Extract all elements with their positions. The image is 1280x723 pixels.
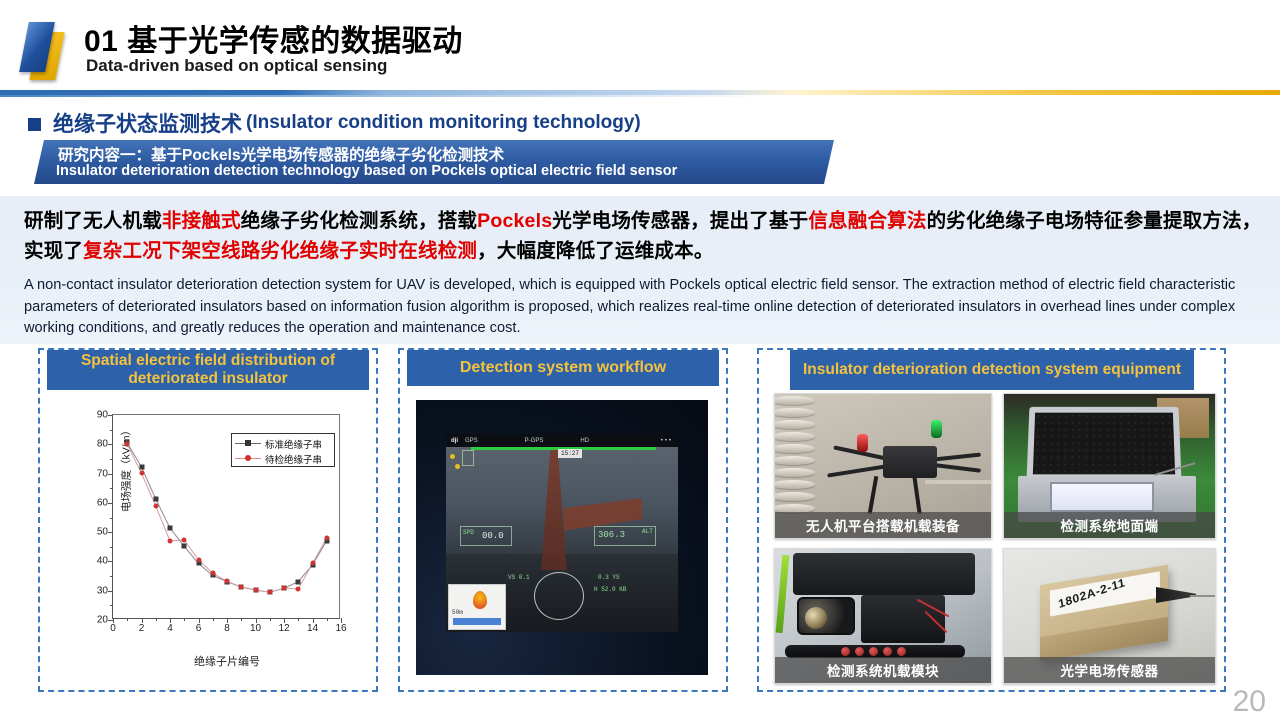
chart-x-minor-tickmark — [327, 618, 328, 621]
section-heading-zh: 绝缘子状态监测技术 — [53, 108, 242, 138]
legend-item-tested: 待检绝缘子串 — [235, 451, 331, 466]
controller-screen: dji GPS P-GPS HD ••• 15:27 SPD 00.0 306.… — [446, 434, 678, 632]
chart-x-tick: 4 — [167, 623, 173, 634]
chart-data-point — [225, 579, 230, 584]
summary-paragraph-zh: 研制了无人机载非接触式绝缘子劣化检测系统，搭载Pockels光学电场传感器，提出… — [24, 206, 1262, 266]
map-scale-label: 50m — [452, 609, 463, 616]
chart-x-tick: 2 — [139, 623, 145, 634]
photo-caption: 检测系统地面端 — [1004, 512, 1215, 538]
chart-data-point — [253, 587, 258, 592]
chart-y-minor-tickmark — [110, 605, 113, 606]
chart-x-tickmark — [313, 618, 314, 623]
square-bullet-icon — [28, 118, 41, 131]
photo-caption: 光学电场传感器 — [1004, 657, 1215, 683]
chart-data-point — [196, 557, 201, 562]
chart-x-tick: 16 — [335, 623, 346, 634]
chart-y-tickmark — [108, 591, 113, 592]
header-divider-secondary — [0, 95, 1280, 97]
drone-led-green-icon — [931, 420, 942, 438]
panel-title-left: Spatial electric field distribution of d… — [47, 350, 369, 390]
chart-x-tickmark — [284, 618, 285, 623]
chart-x-tickmark — [341, 618, 342, 623]
chart-x-axis-label: 绝缘子片编号 — [113, 653, 341, 669]
dji-logo-icon: dji — [451, 438, 458, 444]
chart-data-point — [125, 442, 130, 447]
chart-y-tick: 40 — [97, 556, 108, 567]
osd-left-stick-icon — [450, 452, 462, 478]
chart-y-tickmark — [108, 474, 113, 475]
osd-timer: 15:27 — [558, 449, 582, 458]
chart-data-point — [182, 544, 187, 549]
osd-top-bar: dji GPS P-GPS HD ••• — [446, 434, 678, 447]
chart-y-minor-tickmark — [110, 547, 113, 548]
osd-gps-label: GPS — [465, 438, 478, 444]
chart-x-tickmark — [170, 618, 171, 623]
osd-mode-label: P-GPS — [525, 438, 544, 444]
osd-alt-value: 306.3 — [598, 530, 625, 540]
osd-vs: VS 0.1 — [508, 574, 530, 581]
chart-data-point — [139, 465, 144, 470]
chart-x-minor-tickmark — [156, 618, 157, 621]
chart-data-point — [310, 561, 315, 566]
chart-x-minor-tickmark — [184, 618, 185, 621]
chart-y-tick: 70 — [97, 468, 108, 479]
chart-y-tick: 50 — [97, 527, 108, 538]
panel-title-mid: Detection system workflow — [407, 350, 719, 386]
legend-marker-circle-icon — [235, 458, 261, 459]
photo-caption: 无人机平台搭载机载装备 — [775, 512, 991, 538]
chart-y-tick: 80 — [97, 439, 108, 450]
chart-y-tick: 60 — [97, 497, 108, 508]
airborne-module-photo: 检测系统机载模块 — [774, 548, 992, 684]
photo-caption: 检测系统机载模块 — [775, 657, 991, 683]
page-number: 20 — [1233, 685, 1266, 719]
drone-controller-screenshot: dji GPS P-GPS HD ••• 15:27 SPD 00.0 306.… — [416, 400, 708, 675]
osd-alt-label: ALT — [642, 528, 653, 535]
map-pin-icon — [473, 591, 487, 609]
chart-y-tick: 20 — [97, 615, 108, 626]
chart-data-point — [296, 579, 301, 584]
chart-x-tick: 12 — [278, 623, 289, 634]
research-topic-banner: 研究内容一：基于Pockels光学电场传感器的绝缘子劣化检测技术 Insulat… — [34, 140, 834, 184]
uav-platform-photo: 无人机平台搭载机载装备 — [774, 393, 992, 539]
chart-y-minor-tickmark — [110, 430, 113, 431]
banner-text-zh: 研究内容一：基于Pockels光学电场传感器的绝缘子劣化检测技术 — [58, 143, 504, 165]
chart-plot-area: 电场强度（kV/m） 绝缘子片编号 标准绝缘子串 待检绝缘子串 20304050… — [112, 414, 340, 619]
chart-data-point — [296, 586, 301, 591]
section-heading: 绝缘子状态监测技术 (Insulator condition monitorin… — [28, 108, 641, 138]
chart-canvas: 电场强度（kV/m） 绝缘子片编号 标准绝缘子串 待检绝缘子串 20304050… — [42, 394, 372, 686]
chart-x-tick: 6 — [196, 623, 202, 634]
terminal-screen — [1050, 482, 1154, 512]
legend-label-tested: 待检绝缘子串 — [265, 452, 322, 466]
chart-x-tickmark — [199, 618, 200, 623]
chart-y-tickmark — [108, 503, 113, 504]
summary-block: 研制了无人机载非接触式绝缘子劣化检测系统，搭载Pockels光学电场传感器，提出… — [0, 196, 1280, 344]
chart-y-tick: 90 — [97, 410, 108, 421]
osd-dist2: H 52.0 KB — [594, 586, 626, 593]
chart-x-tickmark — [256, 618, 257, 623]
chart-data-point — [182, 538, 187, 543]
chart-data-point — [153, 497, 158, 502]
panel-title-right: Insulator deterioration detection system… — [790, 350, 1194, 390]
chart-legend: 标准绝缘子串 待检绝缘子串 — [231, 433, 335, 467]
camera-lens — [797, 597, 855, 635]
osd-dist: 0.3 YS — [598, 574, 620, 581]
legend-label-standard: 标准绝缘子串 — [265, 437, 322, 451]
osd-speed-label: SPD — [463, 529, 474, 536]
chart-data-point — [282, 586, 287, 591]
chart-y-minor-tickmark — [110, 576, 113, 577]
chart-x-minor-tickmark — [127, 618, 128, 621]
drone-body — [883, 446, 937, 478]
chart-data-point — [324, 536, 329, 541]
chart-x-tickmark — [113, 618, 114, 623]
chart-x-tickmark — [227, 618, 228, 623]
drone-led-red-icon — [857, 434, 868, 452]
osd-left-panel — [462, 450, 474, 466]
chart-y-tickmark — [108, 561, 113, 562]
chart-data-point — [168, 538, 173, 543]
chart-x-minor-tickmark — [298, 618, 299, 621]
chart-x-tick: 14 — [307, 623, 318, 634]
chart-y-tickmark — [108, 415, 113, 416]
optical-field-sensor-photo: 1802A-2-11 光学电场传感器 — [1003, 548, 1216, 684]
chart-y-minor-tickmark — [110, 518, 113, 519]
chart-x-minor-tickmark — [270, 618, 271, 621]
chart-y-minor-tickmark — [110, 459, 113, 460]
osd-speed-value: 00.0 — [482, 531, 504, 541]
section-heading-en: (Insulator condition monitoring technolo… — [246, 112, 641, 134]
chart-data-point — [239, 584, 244, 589]
legend-marker-square-icon — [235, 443, 261, 444]
case-lid — [1027, 407, 1182, 481]
summary-paragraph-en: A non-contact insulator deterioration de… — [24, 275, 1262, 338]
page-title-zh: 01 基于光学传感的数据驱动 — [84, 16, 463, 60]
banner-text-en: Insulator deterioration detection techno… — [56, 163, 677, 179]
chart-x-tick: 8 — [224, 623, 230, 634]
chart-y-tick: 30 — [97, 585, 108, 596]
osd-more-icon[interactable]: ••• — [661, 438, 673, 444]
osd-hd-label: HD — [580, 438, 589, 444]
legend-item-standard: 标准绝缘子串 — [235, 436, 331, 451]
osd-minimap: 50m — [448, 584, 506, 630]
chart-data-point — [210, 571, 215, 576]
slide-root: 01 基于光学传感的数据驱动 Data-driven based on opti… — [0, 0, 1280, 723]
chart-x-minor-tickmark — [241, 618, 242, 621]
chart-data-point — [267, 590, 272, 595]
page-title-en: Data-driven based on optical sensing — [86, 56, 387, 76]
chart-data-point — [139, 471, 144, 476]
chart-y-tickmark — [108, 532, 113, 533]
map-legend-bar — [453, 618, 501, 625]
ground-terminal-photo: 检测系统地面端 — [1003, 393, 1216, 539]
chart-y-tickmark — [108, 444, 113, 445]
chart-x-minor-tickmark — [213, 618, 214, 621]
slide-header: 01 基于光学传感的数据驱动 Data-driven based on opti… — [0, 6, 1280, 88]
osd-attitude-indicator — [534, 572, 584, 620]
chart-data-point — [168, 526, 173, 531]
sensor-cable — [1190, 595, 1216, 597]
chart-x-tick: 0 — [110, 623, 116, 634]
chart-x-tickmark — [142, 618, 143, 623]
chart-data-point — [153, 504, 158, 509]
chart-y-minor-tickmark — [110, 488, 113, 489]
chart-x-tick: 10 — [250, 623, 261, 634]
slide-logo-icon — [20, 20, 78, 76]
